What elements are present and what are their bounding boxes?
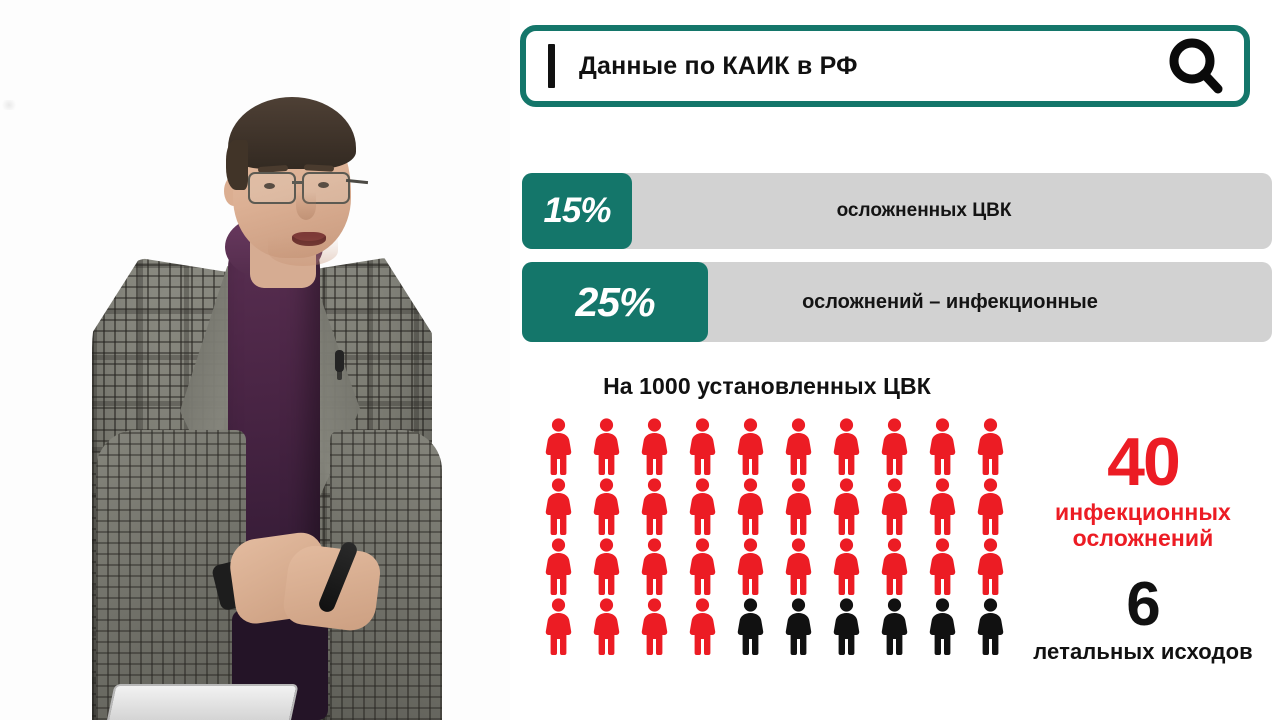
pictogram-row [534,418,1014,478]
pictogram-cell [822,478,870,538]
person-icon [783,478,814,535]
pictogram-cell [678,598,726,658]
stat-bar-2-label: осложнений – инфекционные [708,291,1272,314]
pictogram-grid [534,418,1014,658]
pictogram-cell [918,418,966,478]
nose [296,192,316,220]
laptop-edge [105,684,298,720]
pictogram-cell [534,538,582,598]
pictogram-row [534,598,1014,658]
pictogram-cell [918,538,966,598]
person-icon [591,418,622,475]
stat-bar-2-percent: 25% [522,262,708,342]
pictogram-cell [726,418,774,478]
pictogram-cell [870,478,918,538]
pictogram-cell [534,478,582,538]
pictogram-cell [918,478,966,538]
person-icon [735,478,766,535]
pictogram-cell [582,598,630,658]
person-icon [975,598,1006,655]
slide-root: Данные по КАИК в РФ 15% осложненных ЦВК … [0,0,1280,720]
person-icon [975,538,1006,595]
pictogram-cell [774,478,822,538]
glasses-bridge [292,181,304,184]
person-icon [831,538,862,595]
pictogram-cell [822,598,870,658]
person-icon [831,598,862,655]
stat-bar-1-label: осложненных ЦВК [632,200,1272,222]
person-icon [687,598,718,655]
text-caret-icon [548,44,555,88]
person-icon [543,538,574,595]
person-icon [831,418,862,475]
person-icon [879,418,910,475]
pictogram-cell [822,538,870,598]
pictogram-cell [582,418,630,478]
deaths-label: летальных исходов [1008,639,1278,665]
person-icon [879,538,910,595]
person-icon [639,538,670,595]
chin [268,236,338,266]
person-icon [639,598,670,655]
pictogram-cell [678,538,726,598]
pictogram-cell [630,598,678,658]
stat-bar-1: 15% осложненных ЦВК [522,173,1272,249]
deaths-number: 6 [1008,576,1278,635]
pictogram-cell [822,418,870,478]
infections-label-line-1: инфекционных [1008,499,1278,526]
pictogram-cell [870,538,918,598]
pictogram-cell [582,478,630,538]
pictogram-cell [870,598,918,658]
stats-column: 40 инфекционных осложнений 6 летальных и… [1008,430,1278,665]
pictogram-row [534,478,1014,538]
pictogram-cell [966,538,1014,598]
pictogram-cell [726,478,774,538]
pictogram-cell [774,598,822,658]
pictogram-cell [966,598,1014,658]
person-icon [783,538,814,595]
person-icon [783,418,814,475]
pictogram-cell [582,538,630,598]
person-icon [879,598,910,655]
pictogram-cell [678,418,726,478]
person-icon [783,598,814,655]
info-panel: Данные по КАИК в РФ 15% осложненных ЦВК … [510,0,1280,720]
person-icon [975,418,1006,475]
pictogram-cell [630,478,678,538]
search-icon[interactable] [1168,37,1224,95]
search-bar[interactable]: Данные по КАИК в РФ [520,25,1250,107]
stat-bar-1-percent: 15% [522,173,632,249]
person-icon [543,418,574,475]
pictogram-title: На 1000 установленных ЦВК [522,373,1012,400]
person-icon [591,598,622,655]
pictogram-cell [534,418,582,478]
person-icon [927,538,958,595]
pictogram-cell [966,418,1014,478]
stat-bar-2: 25% осложнений – инфекционные [522,262,1272,342]
person-icon [543,478,574,535]
person-icon [927,418,958,475]
person-icon [735,598,766,655]
pictogram-row [534,538,1014,598]
person-icon [831,478,862,535]
person-icon [687,478,718,535]
person-icon [591,478,622,535]
glasses-lens-left [248,172,296,204]
person-icon [927,598,958,655]
pictogram-cell [534,598,582,658]
infections-label-line-2: осложнений [1008,525,1278,552]
person-icon [879,478,910,535]
person-icon [927,478,958,535]
person-icon [687,538,718,595]
person-icon [543,598,574,655]
person-icon [735,538,766,595]
pictogram-cell [774,418,822,478]
person-icon [975,478,1006,535]
search-input[interactable]: Данные по КАИК в РФ [579,52,858,81]
person-icon [639,418,670,475]
pictogram-cell [630,418,678,478]
infections-label: инфекционных осложнений [1008,499,1278,552]
infections-number: 40 [1008,430,1278,495]
hair-sideburn [226,140,248,190]
lapel-microphone [335,350,344,372]
person-icon [735,418,766,475]
presenter-photo [0,0,510,720]
pictogram-cell [678,478,726,538]
pictogram-cell [870,418,918,478]
pictogram-cell [630,538,678,598]
person-icon [591,538,622,595]
pictogram-cell [726,538,774,598]
pictogram-cell [774,538,822,598]
person-icon [687,418,718,475]
pictogram-cell [918,598,966,658]
pictogram-cell [966,478,1014,538]
person-icon [639,478,670,535]
pictogram-cell [726,598,774,658]
